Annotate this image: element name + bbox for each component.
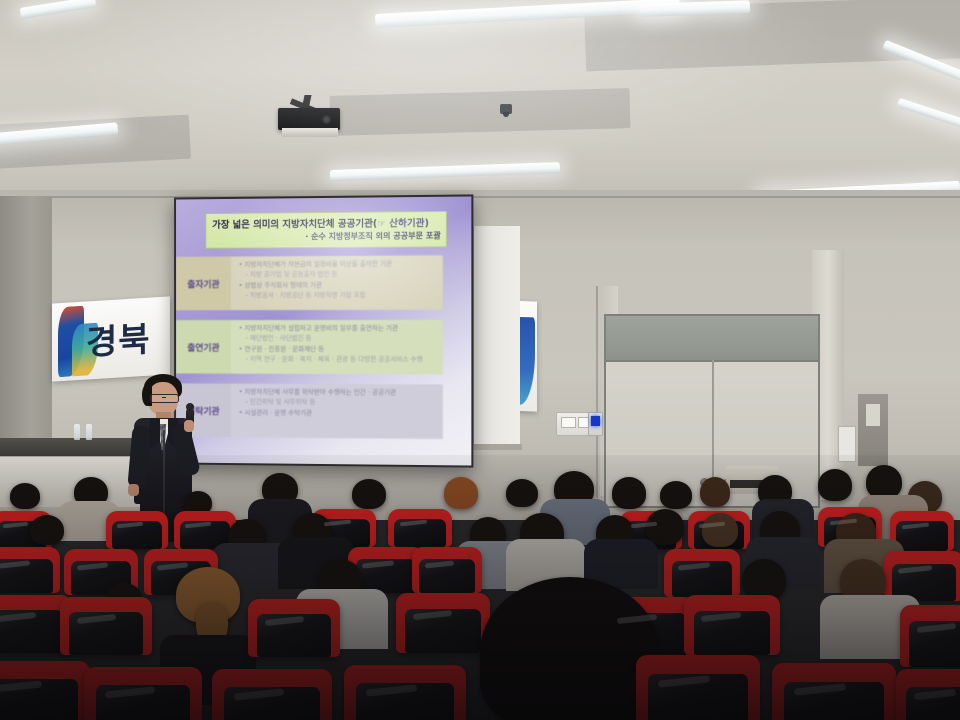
auditorium-seat[interactable] <box>60 597 152 655</box>
slide-bullet: 지방공사 · 지방공단 등 지방직영 기업 포함 <box>239 292 437 299</box>
auditorium-seat[interactable] <box>772 663 896 720</box>
auditorium-seat[interactable] <box>248 599 340 657</box>
slide-bullet: 지방자치단체 사무를 위탁받아 수행하는 민간 · 공공기관 <box>239 389 437 397</box>
slide-row-body: 지방자치단체가 자본금의 일정비율 이상을 출자한 기관 지방 공기업 및 공동… <box>231 255 443 310</box>
auditorium-seat[interactable] <box>106 511 168 549</box>
slide-row: 출자기관 지방자치단체가 자본금의 일정비율 이상을 출자한 기관 지방 공기업… <box>176 255 443 310</box>
auditorium-seat[interactable] <box>396 593 490 653</box>
slide-bullet: 재단법인 · 사단법인 등 <box>239 335 437 342</box>
audience-head <box>612 477 646 509</box>
auditorium-seat[interactable] <box>684 595 780 655</box>
slide-row-body: 지방자치단체가 설립하고 운영비의 일부를 출연하는 기관 재단법인 · 사단법… <box>231 320 443 375</box>
auditorium-seat[interactable] <box>388 509 452 547</box>
auditorium-seat[interactable] <box>344 665 466 720</box>
auditorium-seat[interactable] <box>0 547 60 593</box>
slide-bullet: 지방 공기업 및 공동출자 법인 등 <box>239 271 437 279</box>
eyeglasses-icon <box>150 394 179 403</box>
whiteboard <box>472 226 520 448</box>
slide-title-bar: 가장 넓은 의미의 지방자치단체 공공기관(☞ 산하기관) · 순수 지방정부조… <box>205 211 447 249</box>
audience-head <box>506 479 538 507</box>
slide-bullet: 지역 연구 · 문화 · 복지 · 체육 · 관광 등 다양한 공공서비스 수행 <box>239 356 437 363</box>
auditorium-seat[interactable] <box>0 661 90 720</box>
audience-head <box>660 481 692 509</box>
slide-row-label: 출자기관 <box>176 257 231 311</box>
wall-seam <box>0 196 960 198</box>
audience-head <box>700 477 730 507</box>
slide-bullet: 지방자치단체가 자본금의 일정비율 이상을 출자한 기관 <box>239 260 437 268</box>
audience-head <box>444 477 478 509</box>
auditorium-seat[interactable] <box>636 655 760 720</box>
ceiling-light-wash <box>0 0 960 200</box>
audience-head <box>30 515 64 545</box>
auditorium-seat[interactable] <box>84 667 202 720</box>
auditorium-seat[interactable] <box>896 669 960 720</box>
audience-head-foreground <box>480 577 660 720</box>
banner-left-text: 경북 <box>86 312 151 365</box>
water-bottle <box>86 424 92 440</box>
slide-bullet: 지방자치단체가 설립하고 운영비의 일부를 출연하는 기관 <box>239 325 437 332</box>
audience-head <box>702 513 738 547</box>
slide-row-body: 지방자치단체 사무를 위탁받아 수행하는 민간 · 공공기관 민간위탁 및 사무… <box>231 384 443 439</box>
transom-window <box>606 316 818 362</box>
auditorium-seat[interactable] <box>884 551 960 601</box>
projection-screen: 가장 넓은 의미의 지방자치단체 공공기관(☞ 산하기관) · 순수 지방정부조… <box>174 194 473 467</box>
indicator-switch[interactable] <box>588 412 603 436</box>
water-bottle <box>74 424 80 440</box>
slide-bullet: 민간위탁 및 사무위탁 등 <box>239 399 437 407</box>
slide-title-main: 가장 넓은 의미의 지방자치단체 공공기관(☞ 산하기관) <box>212 215 442 231</box>
slide-row-label: 출연기관 <box>176 320 231 374</box>
audience-head <box>352 479 386 509</box>
slide-row: 출연기관 지방자치단체가 설립하고 운영비의 일부를 출연하는 기관 재단법인 … <box>176 320 443 375</box>
audience-head <box>818 469 852 501</box>
slide-row: 위탁기관 지방자치단체 사무를 위탁받아 수행하는 민간 · 공공기관 민간위탁… <box>176 383 443 439</box>
audience-head <box>10 483 40 509</box>
auditorium-seat[interactable] <box>212 669 332 720</box>
whiteboard-tray <box>470 444 522 450</box>
slide-bullet: 시설관리 · 운영 수탁기관 <box>239 409 437 417</box>
presenter-hand <box>184 420 194 432</box>
auditorium-seat[interactable] <box>412 547 482 593</box>
audience-area <box>0 455 960 720</box>
audience-head <box>646 509 684 545</box>
audience-head <box>866 465 902 499</box>
lecture-hall-photo: 경북 정보 가장 넓은 의미의 지방자치단체 공공기관(☞ 산하기관) · 순수… <box>0 0 960 720</box>
slide-bullet: 연구원 · 진흥원 · 문화재단 등 <box>239 346 437 353</box>
projected-slide: 가장 넓은 의미의 지방자치단체 공공기관(☞ 산하기관) · 순수 지방정부조… <box>176 196 471 465</box>
slide-bullet: 상법상 주식회사 형태의 기관 <box>239 281 437 289</box>
slide-subtitle: · 순수 지방정부조직 외의 공공부문 포괄 <box>305 230 440 242</box>
banner-left: 경북 <box>52 296 170 381</box>
auditorium-seat[interactable] <box>664 549 740 597</box>
auditorium-seat[interactable] <box>900 605 960 667</box>
